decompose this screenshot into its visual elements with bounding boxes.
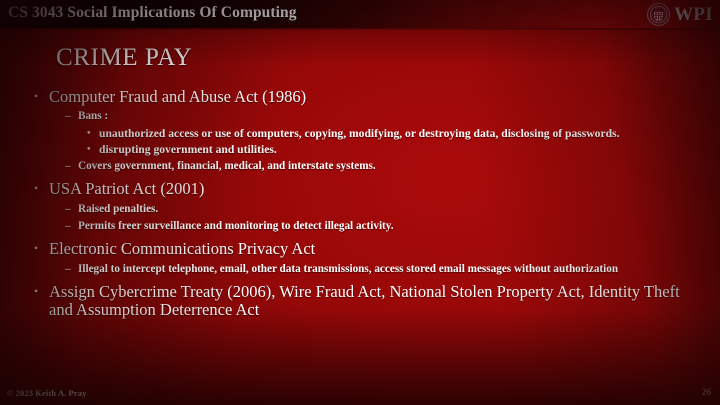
slide-title: CRIME PAY [56, 44, 192, 72]
wpi-seal-icon [647, 3, 670, 26]
wpi-wordmark: WPI [674, 5, 713, 24]
bullet-level1: • Assign Cybercrime Treaty (2006), Wire … [34, 283, 700, 320]
dash-marker-icon: – [65, 110, 78, 123]
bullet-text: Covers government, financial, medical, a… [78, 160, 700, 173]
bullet-text: Electronic Communications Privacy Act [49, 240, 700, 258]
course-title: CS 3043 Social Implications Of Computing [8, 4, 297, 22]
bullet-text: unauthorized access or use of computers,… [99, 127, 700, 140]
bullet-marker-icon: • [34, 240, 49, 257]
bullet-marker-icon: • [87, 143, 99, 156]
bullet-marker-icon: • [34, 283, 49, 300]
bullet-marker-icon: • [34, 180, 49, 197]
bullet-text: Raised penalties. [78, 203, 700, 216]
bullet-text: Computer Fraud and Abuse Act (1986) [49, 88, 700, 106]
dash-marker-icon: – [65, 160, 78, 173]
bullet-text: disrupting government and utilities. [99, 143, 700, 156]
bullet-level3: • unauthorized access or use of computer… [87, 127, 700, 140]
slide-header-bar: CS 3043 Social Implications Of Computing [0, 0, 720, 28]
bullet-level1: • Electronic Communications Privacy Act [34, 240, 700, 258]
bullet-level2: – Covers government, financial, medical,… [65, 160, 700, 173]
bullet-level1: • Computer Fraud and Abuse Act (1986) [34, 88, 700, 106]
bullet-text: Illegal to intercept telephone, email, o… [78, 263, 700, 276]
dash-marker-icon: – [65, 220, 78, 233]
bullet-level1: • USA Patriot Act (2001) [34, 180, 700, 198]
bullet-level3: • disrupting government and utilities. [87, 143, 700, 156]
dash-marker-icon: – [65, 263, 78, 276]
slide-body: • Computer Fraud and Abuse Act (1986) – … [34, 88, 700, 320]
bullet-level2: – Permits freer surveillance and monitor… [65, 220, 700, 233]
bullet-text: Assign Cybercrime Treaty (2006), Wire Fr… [49, 283, 700, 320]
bullet-level2: – Raised penalties. [65, 203, 700, 216]
bullet-text: Permits freer surveillance and monitorin… [78, 220, 700, 233]
slide-page-number: 26 [702, 388, 712, 398]
bullet-text: Bans : [78, 110, 700, 123]
bullet-text: USA Patriot Act (2001) [49, 180, 700, 198]
bullet-marker-icon: • [34, 88, 49, 105]
bullet-level2: – Illegal to intercept telephone, email,… [65, 263, 700, 276]
bullet-marker-icon: • [87, 127, 99, 140]
bullet-level2: – Bans : [65, 110, 700, 123]
wpi-branding: WPI [647, 1, 713, 27]
presentation-slide: CS 3043 Social Implications Of Computing [0, 0, 720, 405]
dash-marker-icon: – [65, 203, 78, 216]
copyright-notice: © 2023 Keith A. Pray [7, 388, 86, 398]
